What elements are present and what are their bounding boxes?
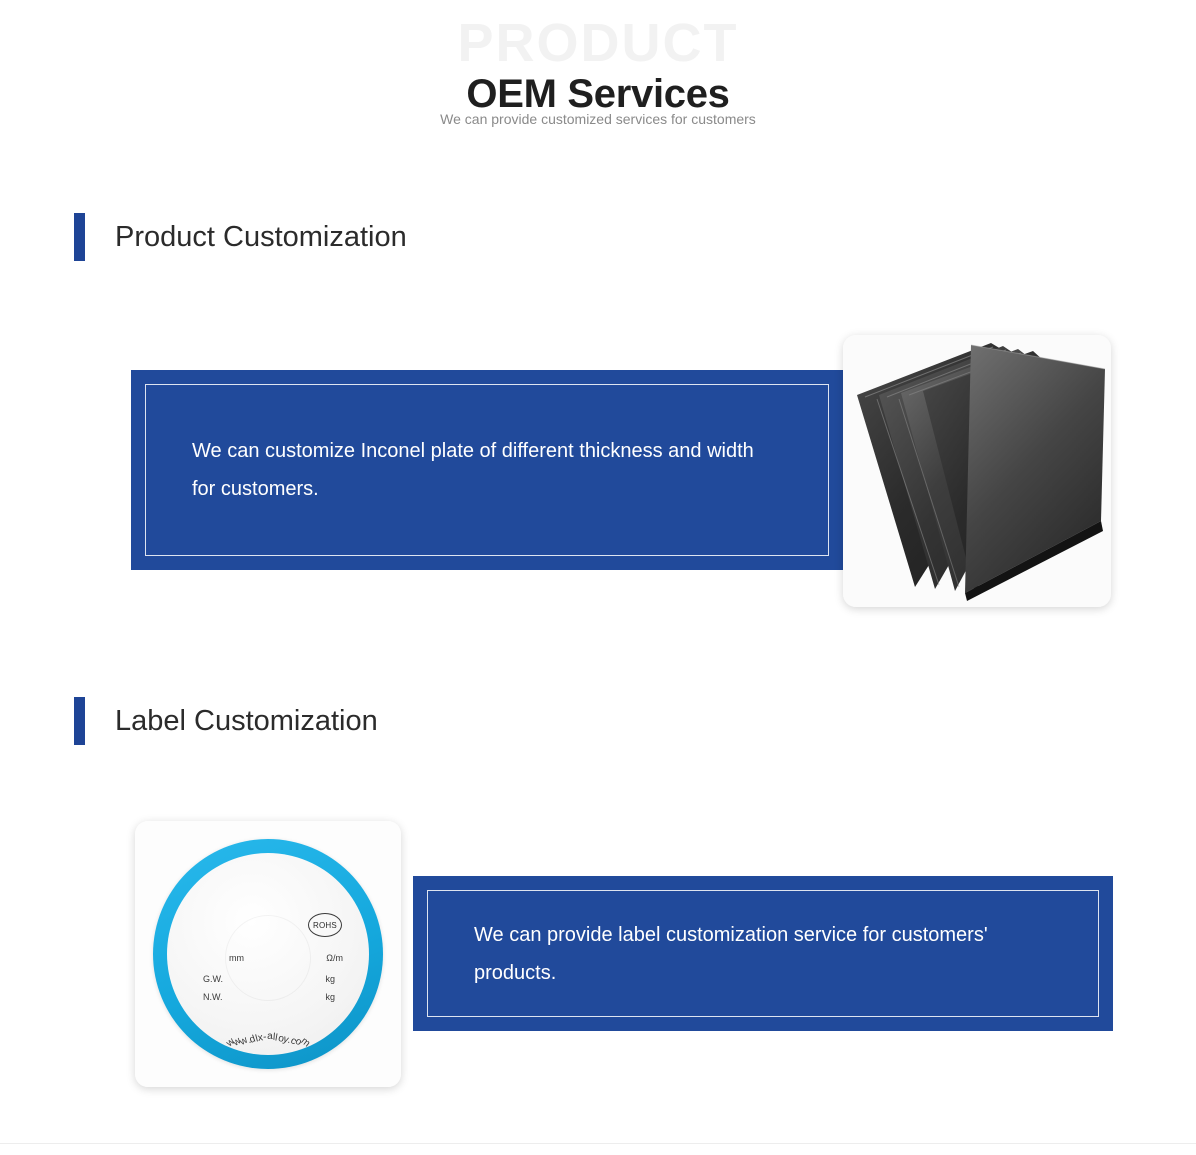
product-customization-text: We can customize Inconel plate of differ… (146, 432, 828, 508)
product-label-photo-card: ROHS mm G.W. N.W. Ω/m kg kg www.dlx-allo… (135, 821, 401, 1087)
label-field-resistance: Ω/m (326, 953, 343, 963)
section-accent-bar (74, 213, 85, 261)
panel-inner-border: We can customize Inconel plate of differ… (145, 384, 829, 556)
inconel-plates-photo (843, 335, 1111, 607)
section-heading-product-customization: Product Customization (74, 212, 407, 262)
watermark-text: PRODUCT (0, 16, 1196, 70)
label-customization-panel: We can provide label customization servi… (413, 876, 1113, 1031)
section-title-label-customization: Label Customization (115, 704, 378, 739)
section-heading-label-customization: Label Customization (74, 696, 378, 746)
label-website-url: www.dlx-alloy.com (227, 1031, 310, 1042)
label-field-mm: mm (229, 953, 244, 963)
page-subtitle: We can provide customized services for c… (0, 110, 1196, 130)
inconel-plates-photo-card (843, 335, 1111, 607)
label-field-gross-weight: G.W. (203, 974, 223, 984)
section-accent-bar (74, 697, 85, 745)
label-disc: ROHS mm G.W. N.W. Ω/m kg kg www.dlx-allo… (153, 839, 383, 1069)
page-header: PRODUCT OEM Services We can provide cust… (0, 0, 1196, 150)
label-field-kg-gross: kg (325, 974, 335, 984)
footer-divider (0, 1143, 1196, 1144)
plates-illustration (843, 335, 1111, 607)
label-field-net-weight: N.W. (203, 992, 223, 1002)
label-customization-text: We can provide label customization servi… (428, 916, 1098, 992)
label-face: ROHS mm G.W. N.W. Ω/m kg kg www.dlx-allo… (167, 853, 369, 1055)
panel-inner-border: We can provide label customization servi… (427, 890, 1099, 1017)
label-field-kg-net: kg (325, 992, 335, 1002)
product-label-photo: ROHS mm G.W. N.W. Ω/m kg kg www.dlx-allo… (135, 821, 401, 1087)
rohs-icon: ROHS (308, 913, 342, 937)
section-title-product-customization: Product Customization (115, 220, 407, 255)
product-customization-panel: We can customize Inconel plate of differ… (131, 370, 843, 570)
